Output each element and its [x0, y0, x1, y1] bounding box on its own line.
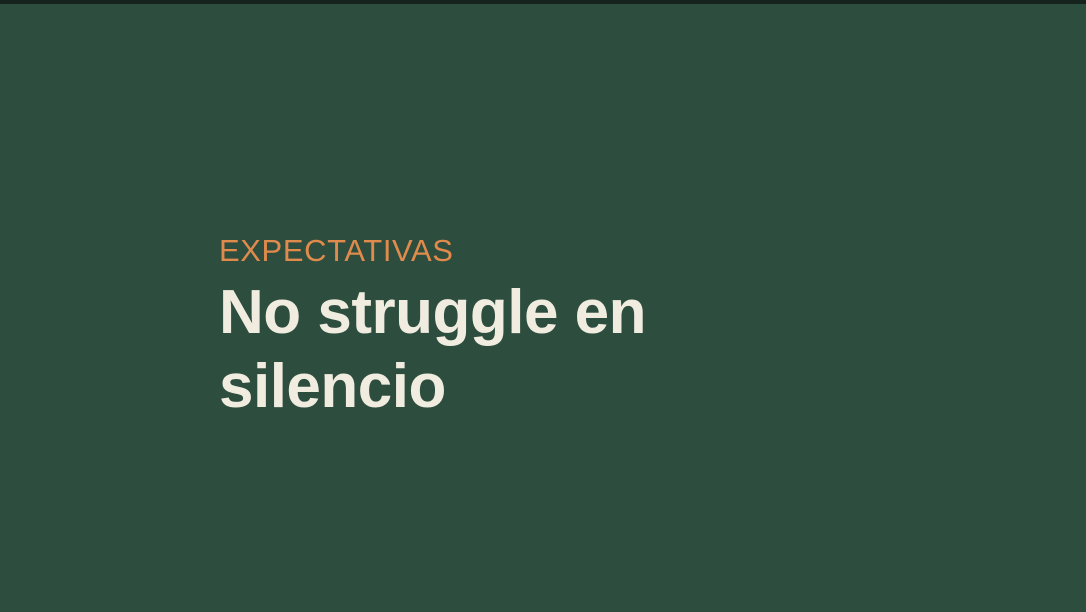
page-title: No struggle en silencio [219, 270, 979, 424]
slide-canvas: EXPECTATIVAS No struggle en silencio [0, 0, 1086, 612]
headline-line-2: silencio [219, 350, 979, 424]
top-edge-bar [0, 0, 1086, 4]
eyebrow-label: EXPECTATIVAS [219, 232, 979, 270]
slide-text-block: EXPECTATIVAS No struggle en silencio [219, 232, 979, 424]
headline-line-1: No struggle en [219, 276, 979, 350]
